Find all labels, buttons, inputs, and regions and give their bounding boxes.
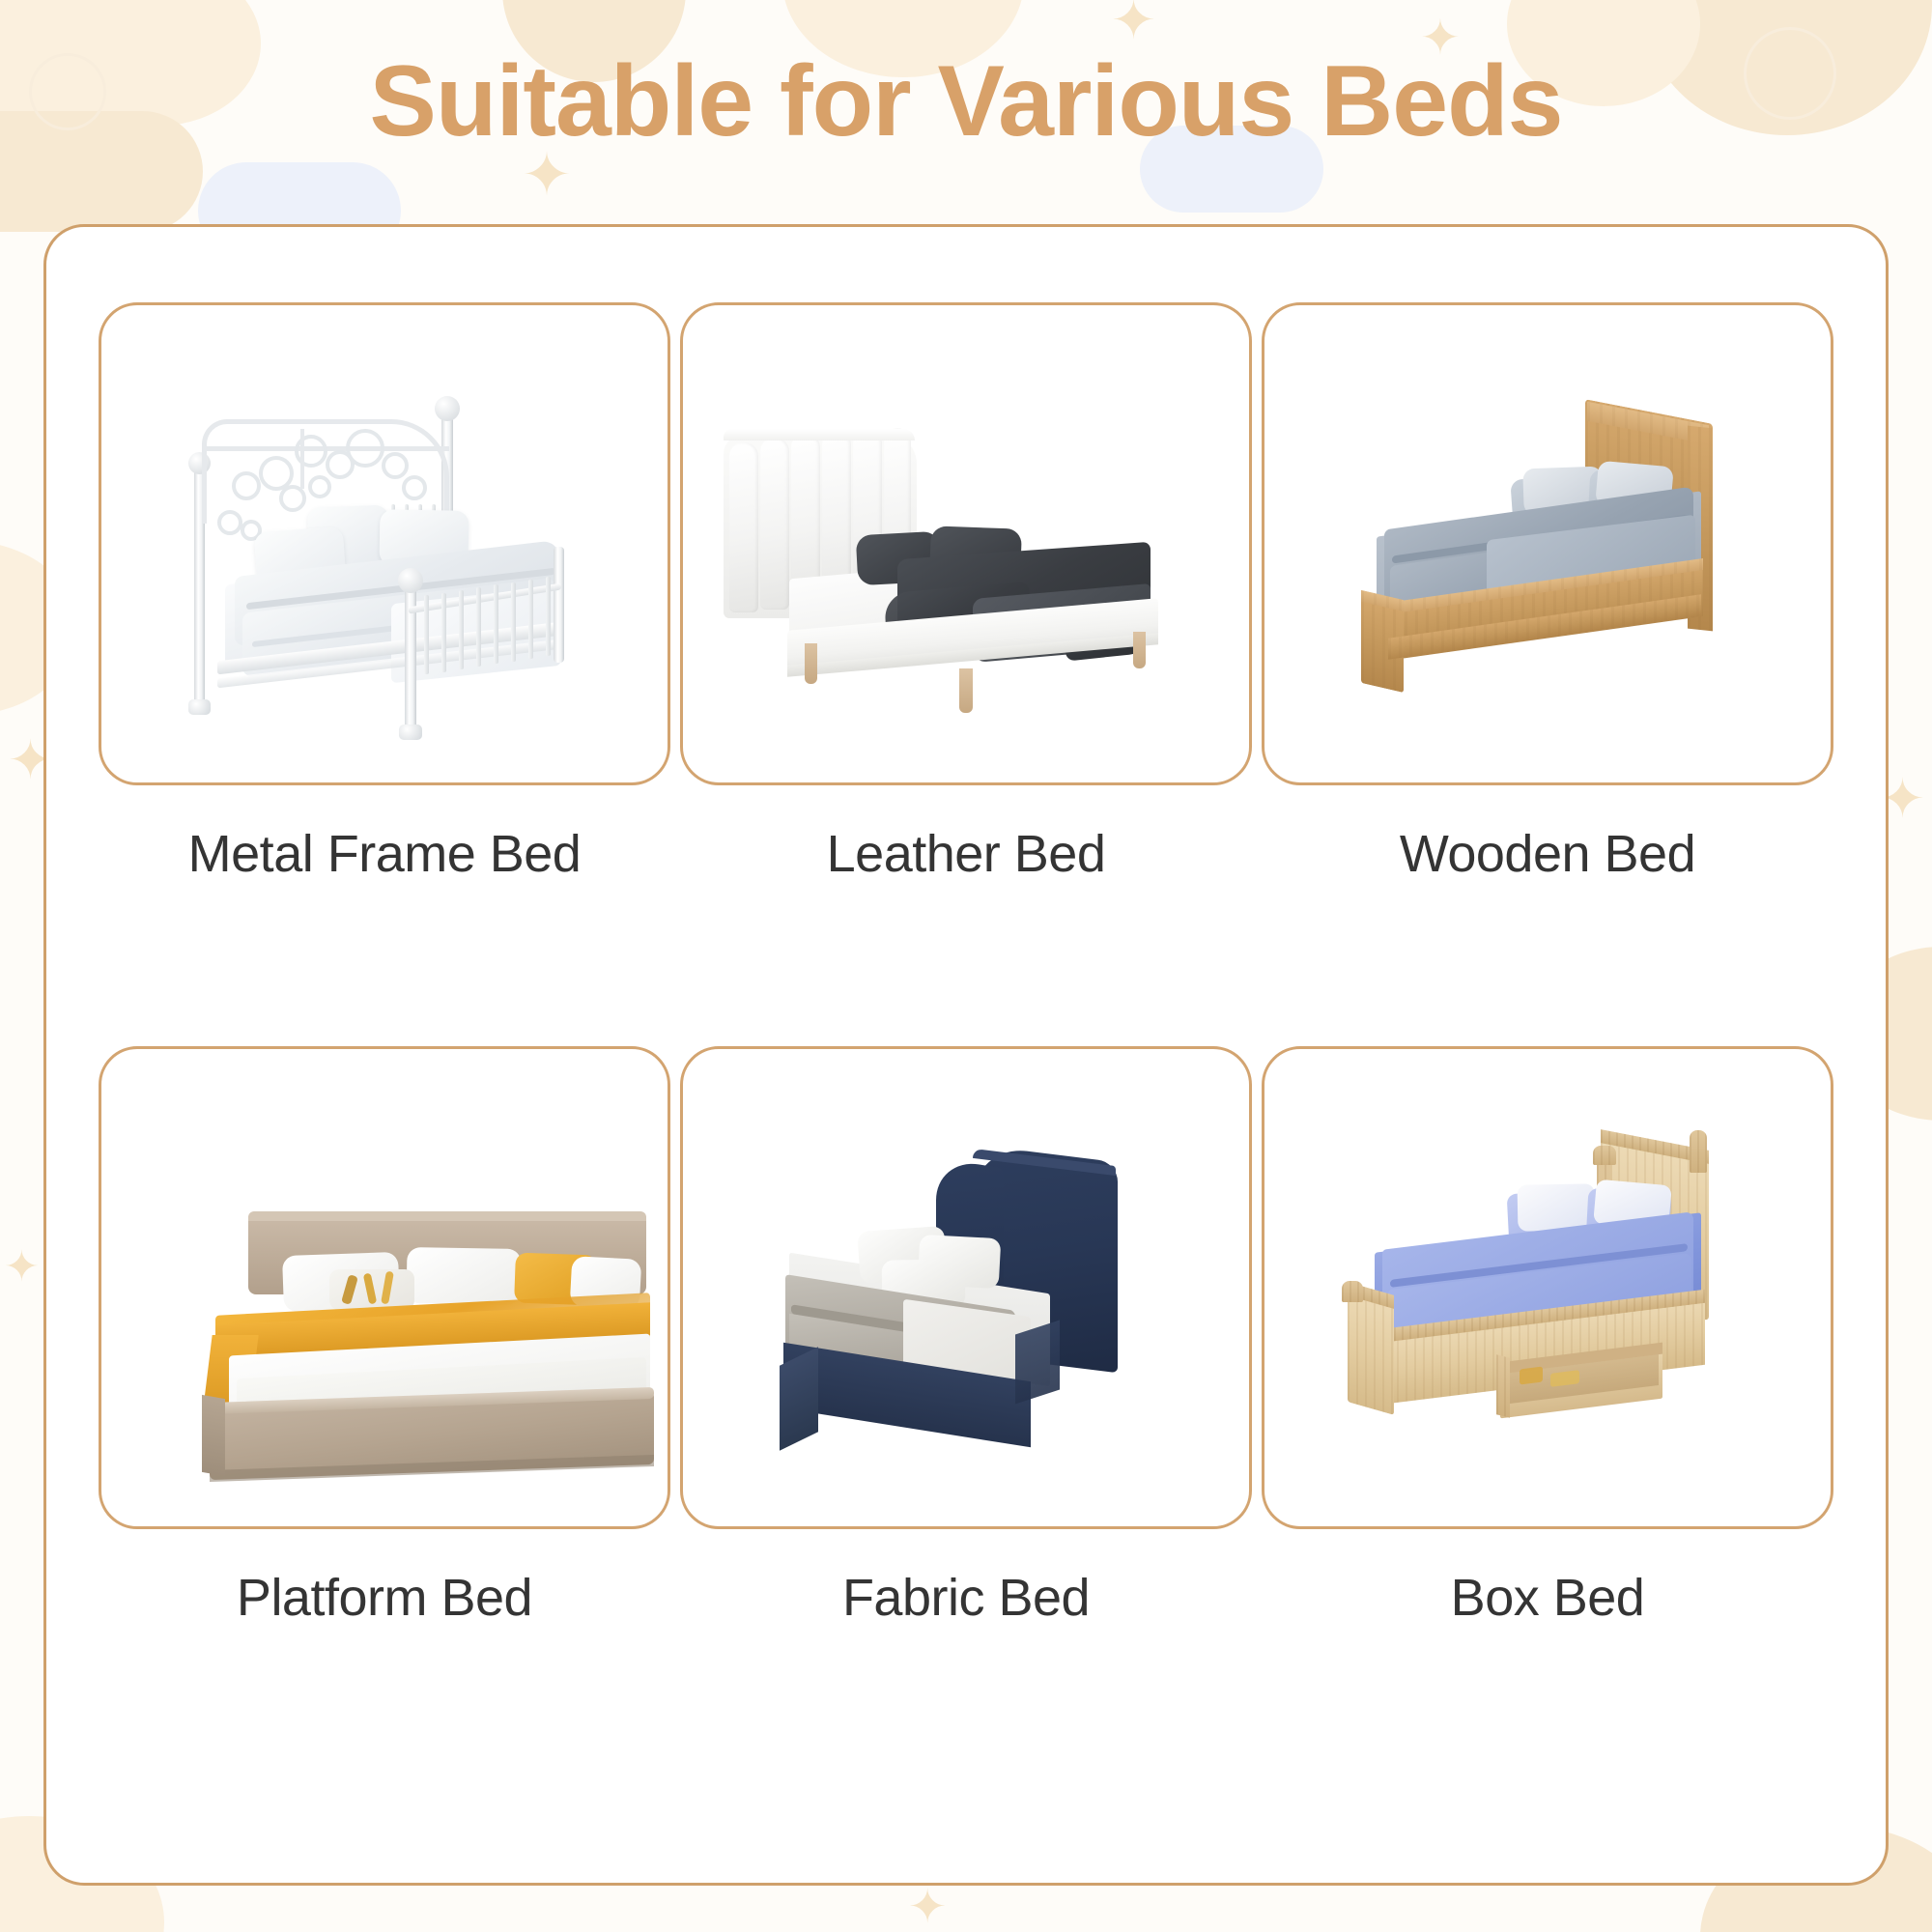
star-icon: ✦ [1111, 0, 1156, 48]
metal-frame-bed-photo [101, 305, 670, 785]
bed-label: Wooden Bed [1400, 824, 1695, 884]
bed-cell-fabric[interactable]: Fabric Bed [680, 1046, 1252, 1628]
star-icon: ✦ [4, 1246, 40, 1289]
leather-bed-photo [683, 305, 1252, 785]
bed-image-frame-platform [99, 1046, 670, 1529]
bed-label: Metal Frame Bed [188, 824, 582, 884]
bed-label: Leather Bed [827, 824, 1106, 884]
beds-row-2: Platform Bed [99, 1046, 1833, 1628]
bed-label: Platform Bed [237, 1568, 532, 1628]
fabric-bed-photo [683, 1049, 1252, 1529]
beds-panel: Metal Frame Bed [43, 224, 1889, 1886]
bed-label: Fabric Bed [842, 1568, 1090, 1628]
bed-cell-leather[interactable]: Leather Bed [680, 302, 1252, 884]
bed-image-frame-box [1262, 1046, 1833, 1529]
bed-image-frame-wooden [1262, 302, 1833, 785]
bed-image-frame-leather [680, 302, 1252, 785]
bed-label: Box Bed [1451, 1568, 1645, 1628]
star-icon: ✦ [908, 1884, 947, 1930]
bed-cell-metal-frame[interactable]: Metal Frame Bed [99, 302, 670, 884]
box-bed-photo [1264, 1049, 1833, 1529]
bed-image-frame-metal-frame [99, 302, 670, 785]
bed-cell-platform[interactable]: Platform Bed [99, 1046, 670, 1628]
beds-grid: Metal Frame Bed [46, 227, 1886, 1883]
page-title: Suitable for Various Beds [0, 44, 1932, 159]
wooden-bed-photo [1264, 305, 1833, 785]
beds-row-1: Metal Frame Bed [99, 302, 1833, 884]
bed-image-frame-fabric [680, 1046, 1252, 1529]
bed-cell-wooden[interactable]: Wooden Bed [1262, 302, 1833, 884]
bed-cell-box[interactable]: Box Bed [1262, 1046, 1833, 1628]
platform-bed-photo [101, 1049, 670, 1529]
